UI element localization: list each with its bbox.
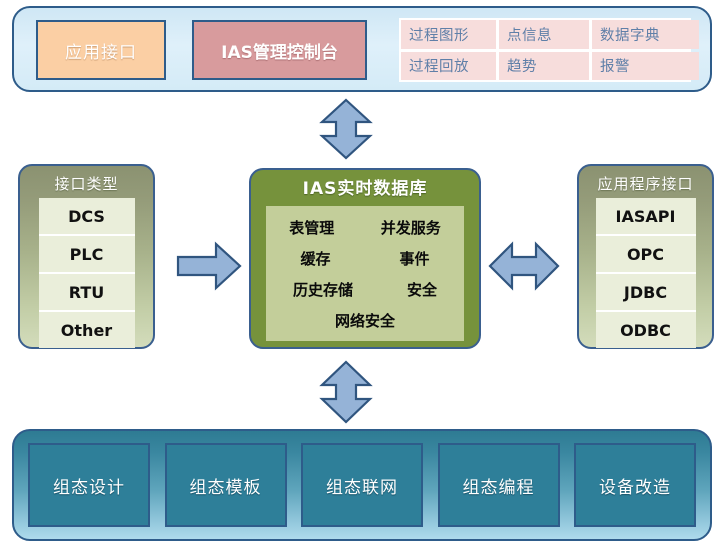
ias-realtime-database-panel: IAS实时数据库 表管理 并发服务 缓存 事件 历史存储 安全 网络安全 bbox=[249, 168, 481, 349]
list-item-dcs[interactable]: DCS bbox=[39, 198, 135, 234]
architecture-diagram: 应用接口 IAS管理控制台 过程图形 点信息 数据字典 过程回放 趋势 报警 接… bbox=[0, 0, 724, 549]
config-box-design[interactable]: 组态设计 bbox=[28, 443, 150, 527]
list-item-iasapi[interactable]: IASAPI bbox=[596, 198, 696, 234]
list-item-rtu[interactable]: RTU bbox=[39, 274, 135, 310]
menu-cell-process-playback[interactable]: 过程回放 bbox=[401, 52, 496, 81]
ias-management-console-box[interactable]: IAS管理控制台 bbox=[192, 20, 367, 80]
api-list: IASAPI OPC JDBC ODBC bbox=[596, 198, 696, 348]
menu-cell-alarm[interactable]: 报警 bbox=[592, 52, 699, 81]
menu-cell-data-dictionary[interactable]: 数据字典 bbox=[592, 20, 699, 49]
bottom-configuration-layer-band: 组态设计 组态模板 组态联网 组态编程 设备改造 bbox=[12, 429, 712, 541]
interface-types-title: 接口类型 bbox=[20, 172, 153, 196]
menu-cell-process-graphics[interactable]: 过程图形 bbox=[401, 20, 496, 49]
db-module-table-management[interactable]: 表管理 bbox=[289, 217, 334, 238]
list-item-plc[interactable]: PLC bbox=[39, 236, 135, 272]
database-row-2: 缓存 事件 bbox=[266, 243, 464, 274]
list-item-odbc[interactable]: ODBC bbox=[596, 312, 696, 348]
console-menu-grid: 过程图形 点信息 数据字典 过程回放 趋势 报警 bbox=[399, 18, 691, 82]
top-bidirectional-arrow bbox=[318, 98, 374, 160]
application-programming-interface-panel: 应用程序接口 IASAPI OPC JDBC ODBC bbox=[577, 164, 714, 349]
database-row-3: 历史存储 安全 bbox=[266, 274, 464, 305]
api-panel-title: 应用程序接口 bbox=[579, 172, 712, 196]
db-module-security[interactable]: 安全 bbox=[407, 279, 437, 300]
database-modules-panel: 表管理 并发服务 缓存 事件 历史存储 安全 网络安全 bbox=[266, 206, 464, 341]
menu-cell-point-info[interactable]: 点信息 bbox=[499, 20, 589, 49]
database-row-1: 表管理 并发服务 bbox=[266, 212, 464, 243]
db-module-history-storage[interactable]: 历史存储 bbox=[293, 279, 353, 300]
right-bidirectional-arrow bbox=[488, 240, 560, 292]
config-box-device-retrofit[interactable]: 设备改造 bbox=[574, 443, 696, 527]
menu-cell-trend[interactable]: 趋势 bbox=[499, 52, 589, 81]
left-right-arrow bbox=[176, 240, 242, 292]
list-item-other[interactable]: Other bbox=[39, 312, 135, 348]
list-item-opc[interactable]: OPC bbox=[596, 236, 696, 272]
config-box-networking[interactable]: 组态联网 bbox=[301, 443, 423, 527]
db-module-network-security[interactable]: 网络安全 bbox=[335, 310, 395, 331]
config-box-template[interactable]: 组态模板 bbox=[165, 443, 287, 527]
list-item-jdbc[interactable]: JDBC bbox=[596, 274, 696, 310]
database-title: IAS实时数据库 bbox=[251, 175, 479, 203]
interface-types-list: DCS PLC RTU Other bbox=[39, 198, 135, 348]
bottom-bidirectional-arrow bbox=[318, 360, 374, 424]
app-interface-box[interactable]: 应用接口 bbox=[36, 20, 166, 80]
database-row-4: 网络安全 bbox=[266, 305, 464, 336]
config-box-programming[interactable]: 组态编程 bbox=[438, 443, 560, 527]
interface-types-panel: 接口类型 DCS PLC RTU Other bbox=[18, 164, 155, 349]
db-module-cache[interactable]: 缓存 bbox=[300, 248, 330, 269]
db-module-event[interactable]: 事件 bbox=[399, 248, 429, 269]
db-module-concurrent-service[interactable]: 并发服务 bbox=[381, 217, 441, 238]
top-application-layer-band: 应用接口 IAS管理控制台 过程图形 点信息 数据字典 过程回放 趋势 报警 bbox=[12, 6, 712, 92]
